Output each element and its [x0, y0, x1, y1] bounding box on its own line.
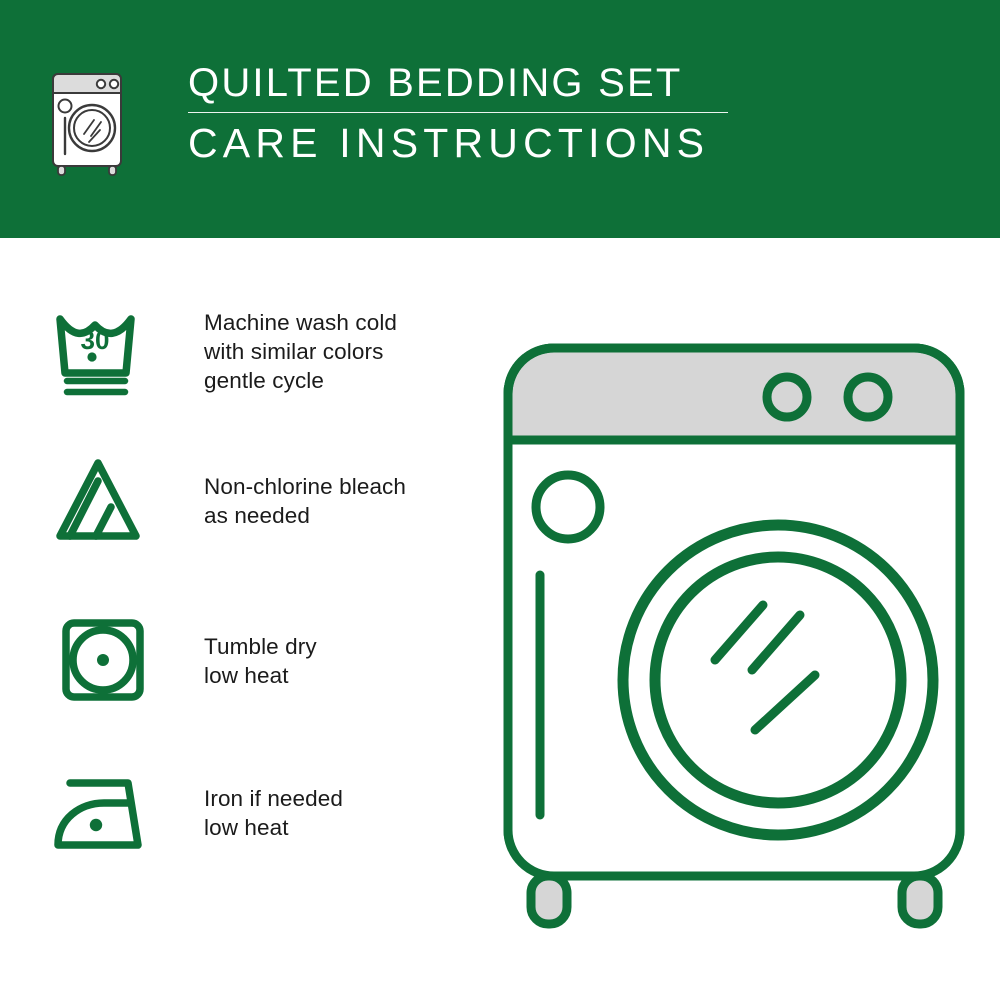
care-text-line: Machine wash cold — [204, 308, 397, 337]
control-knob-left — [767, 377, 807, 417]
page-subtitle: CARE INSTRUCTIONS — [144, 117, 744, 169]
care-text-line: with similar colors — [204, 337, 397, 366]
care-row-wash: 30 Machine wash cold with similar colors… — [48, 296, 488, 406]
care-text-line: gentle cycle — [204, 366, 397, 395]
header-title-group: QUILTED BEDDING SET CARE INSTRUCTIONS — [144, 60, 744, 169]
care-text-line: Non-chlorine bleach — [204, 472, 406, 501]
page-title: QUILTED BEDDING SET — [144, 60, 744, 106]
care-text-line: low heat — [204, 813, 343, 842]
care-text-line: Tumble dry — [204, 632, 317, 661]
care-text-line: Iron if needed — [204, 784, 343, 813]
care-instruction-list: 30 Machine wash cold with similar colors… — [0, 238, 500, 1000]
care-text-line: low heat — [204, 661, 317, 690]
detergent-drawer-circle — [536, 475, 600, 539]
wash-temp-label: 30 — [81, 325, 110, 355]
care-text-wash: Machine wash cold with similar colors ge… — [204, 308, 397, 395]
leg-right — [902, 876, 938, 924]
header-content: QUILTED BEDDING SET CARE INSTRUCTIONS — [44, 60, 964, 190]
wash-tub-30-gentle-icon: 30 — [48, 296, 158, 406]
tumble-dry-low-heat-icon — [48, 606, 158, 716]
care-text-bleach: Non-chlorine bleach as needed — [204, 472, 406, 530]
washing-machine-icon — [44, 68, 130, 178]
non-chlorine-bleach-triangle-icon — [48, 446, 158, 556]
care-text-line: as needed — [204, 501, 406, 530]
iron-low-heat-icon — [48, 758, 158, 868]
leg-left — [531, 876, 567, 924]
front-load-washing-machine-illustration — [490, 330, 980, 940]
care-text-iron: Iron if needed low heat — [204, 784, 343, 842]
care-row-tumble-dry: Tumble dry low heat — [48, 606, 488, 716]
care-text-tumble-dry: Tumble dry low heat — [204, 632, 317, 690]
header-banner: QUILTED BEDDING SET CARE INSTRUCTIONS — [0, 0, 1000, 238]
title-divider — [188, 112, 728, 113]
care-row-bleach: Non-chlorine bleach as needed — [48, 446, 488, 556]
control-knob-right — [848, 377, 888, 417]
care-row-iron: Iron if needed low heat — [48, 758, 488, 868]
door-inner-ring — [655, 557, 901, 803]
